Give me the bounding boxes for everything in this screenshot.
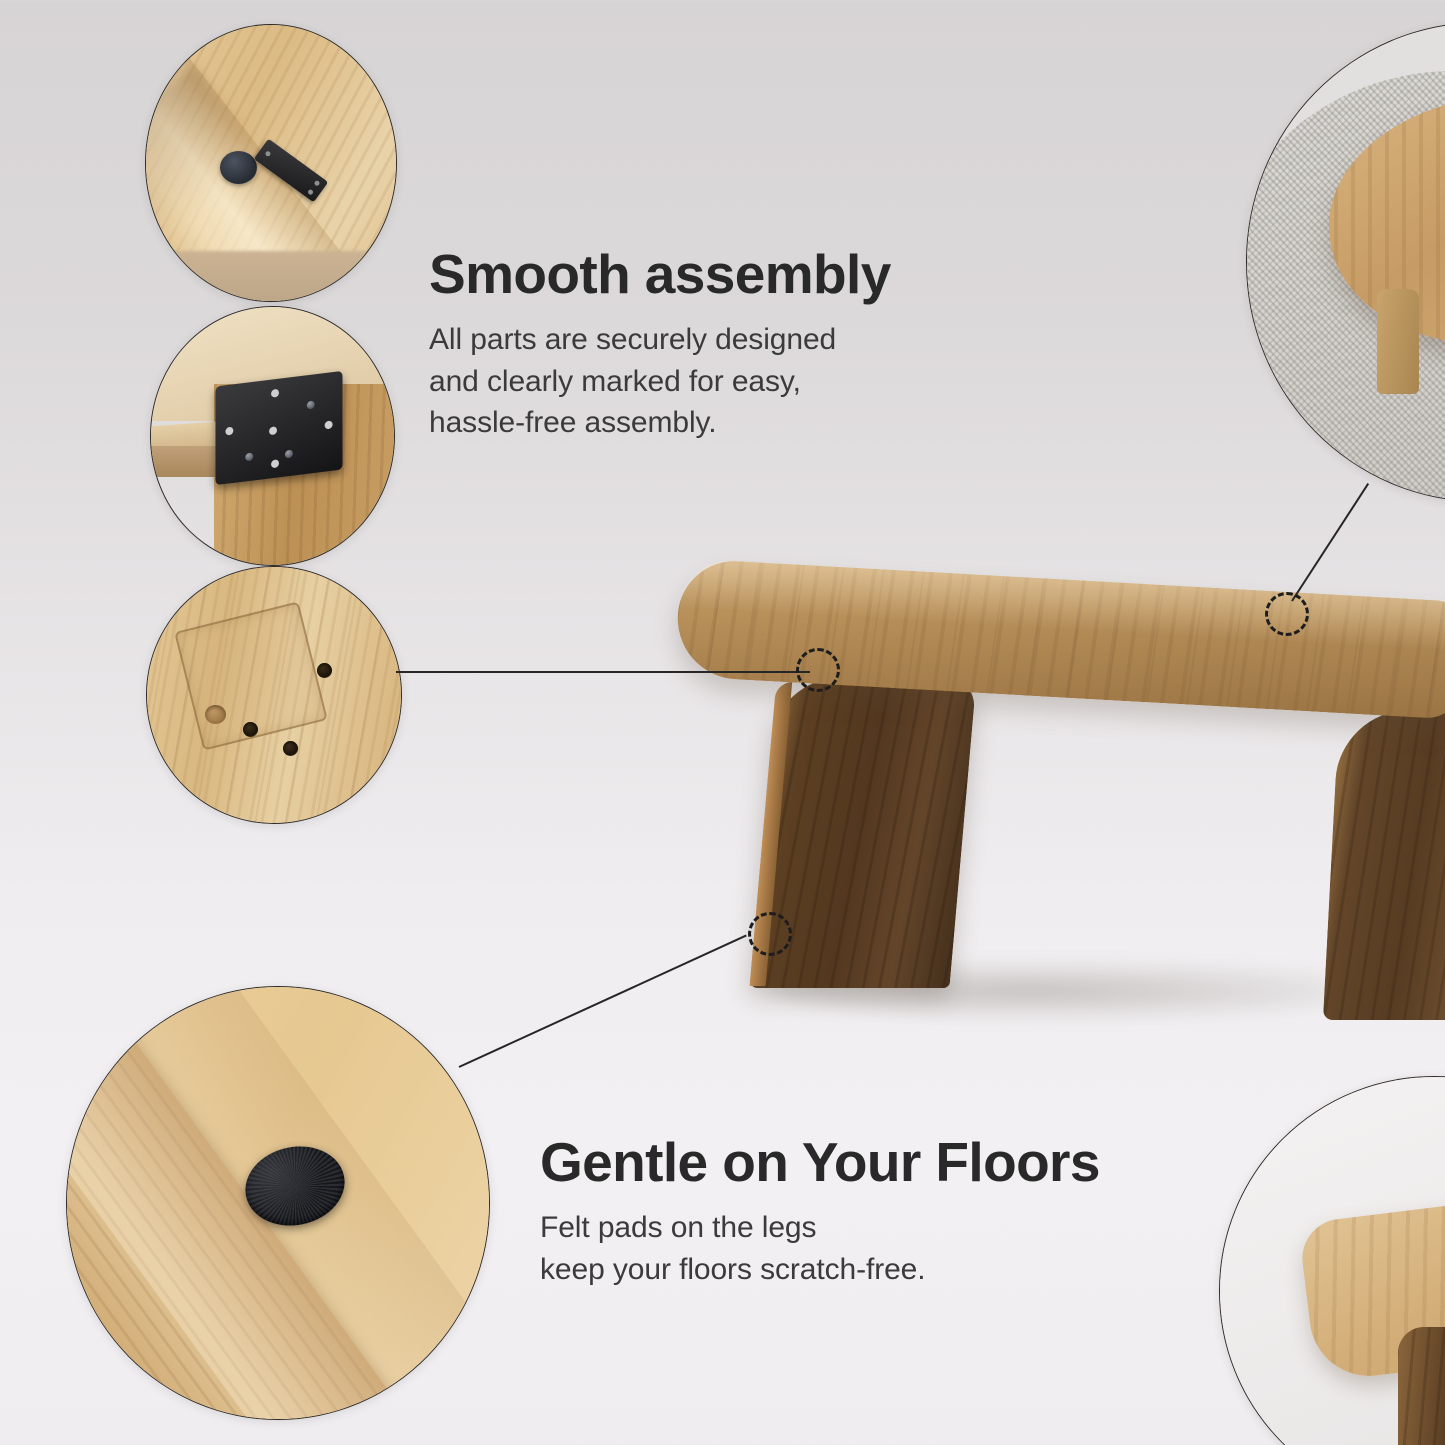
feature-block-gentle-on-floors: Gentle on Your Floors Felt pads on the l… — [540, 1134, 1240, 1290]
detail-bracket-photo — [146, 25, 396, 301]
detail-predrilled-holes-photo — [147, 567, 401, 823]
feature-body-smooth-assembly: All parts are securely designed and clea… — [429, 319, 969, 443]
marker-top-right-edge — [1265, 592, 1309, 636]
dowel-knob-icon — [220, 151, 257, 184]
mounting-plate-icon — [215, 371, 342, 485]
table-leg-lifestyle — [1377, 289, 1419, 394]
marker-top-left-edge — [796, 648, 840, 692]
feature-body-line: hassle-free assembly. — [429, 402, 969, 443]
callout-detail-mounting-plate — [150, 306, 395, 566]
marker-leg-base — [748, 912, 792, 956]
table-leg-edge — [1398, 1327, 1445, 1445]
callout-detail-predrilled-holes — [146, 566, 402, 824]
feature-body-line: All parts are securely designed — [429, 319, 969, 360]
detail-felt-pad-photo — [67, 987, 489, 1419]
feature-heading-smooth-assembly: Smooth assembly — [429, 246, 969, 303]
lifestyle-rug-photo — [1247, 23, 1445, 501]
callout-lifestyle-edge — [1219, 1076, 1445, 1445]
feature-body-line: Felt pads on the legs — [540, 1207, 1240, 1248]
feature-body-gentle-on-floors: Felt pads on the legs keep your floors s… — [540, 1207, 1240, 1290]
product-coffee-table — [655, 560, 1445, 1060]
infographic-canvas: Smooth assembly All parts are securely d… — [0, 0, 1445, 1445]
detail-mounting-plate-photo — [151, 307, 394, 565]
feature-heading-gentle-on-floors: Gentle on Your Floors — [540, 1134, 1240, 1191]
feature-body-line: keep your floors scratch-free. — [540, 1249, 1240, 1290]
callout-detail-felt-pad — [66, 986, 490, 1420]
feature-body-line: and clearly marked for easy, — [429, 361, 969, 402]
callout-detail-bracket — [145, 24, 397, 302]
connector-line-predrilled — [396, 671, 810, 673]
feature-block-smooth-assembly: Smooth assembly All parts are securely d… — [429, 246, 969, 443]
callout-lifestyle-rug-flowers — [1246, 22, 1445, 502]
table-leg-right — [1323, 710, 1445, 1020]
lifestyle-edge-photo — [1220, 1077, 1445, 1445]
